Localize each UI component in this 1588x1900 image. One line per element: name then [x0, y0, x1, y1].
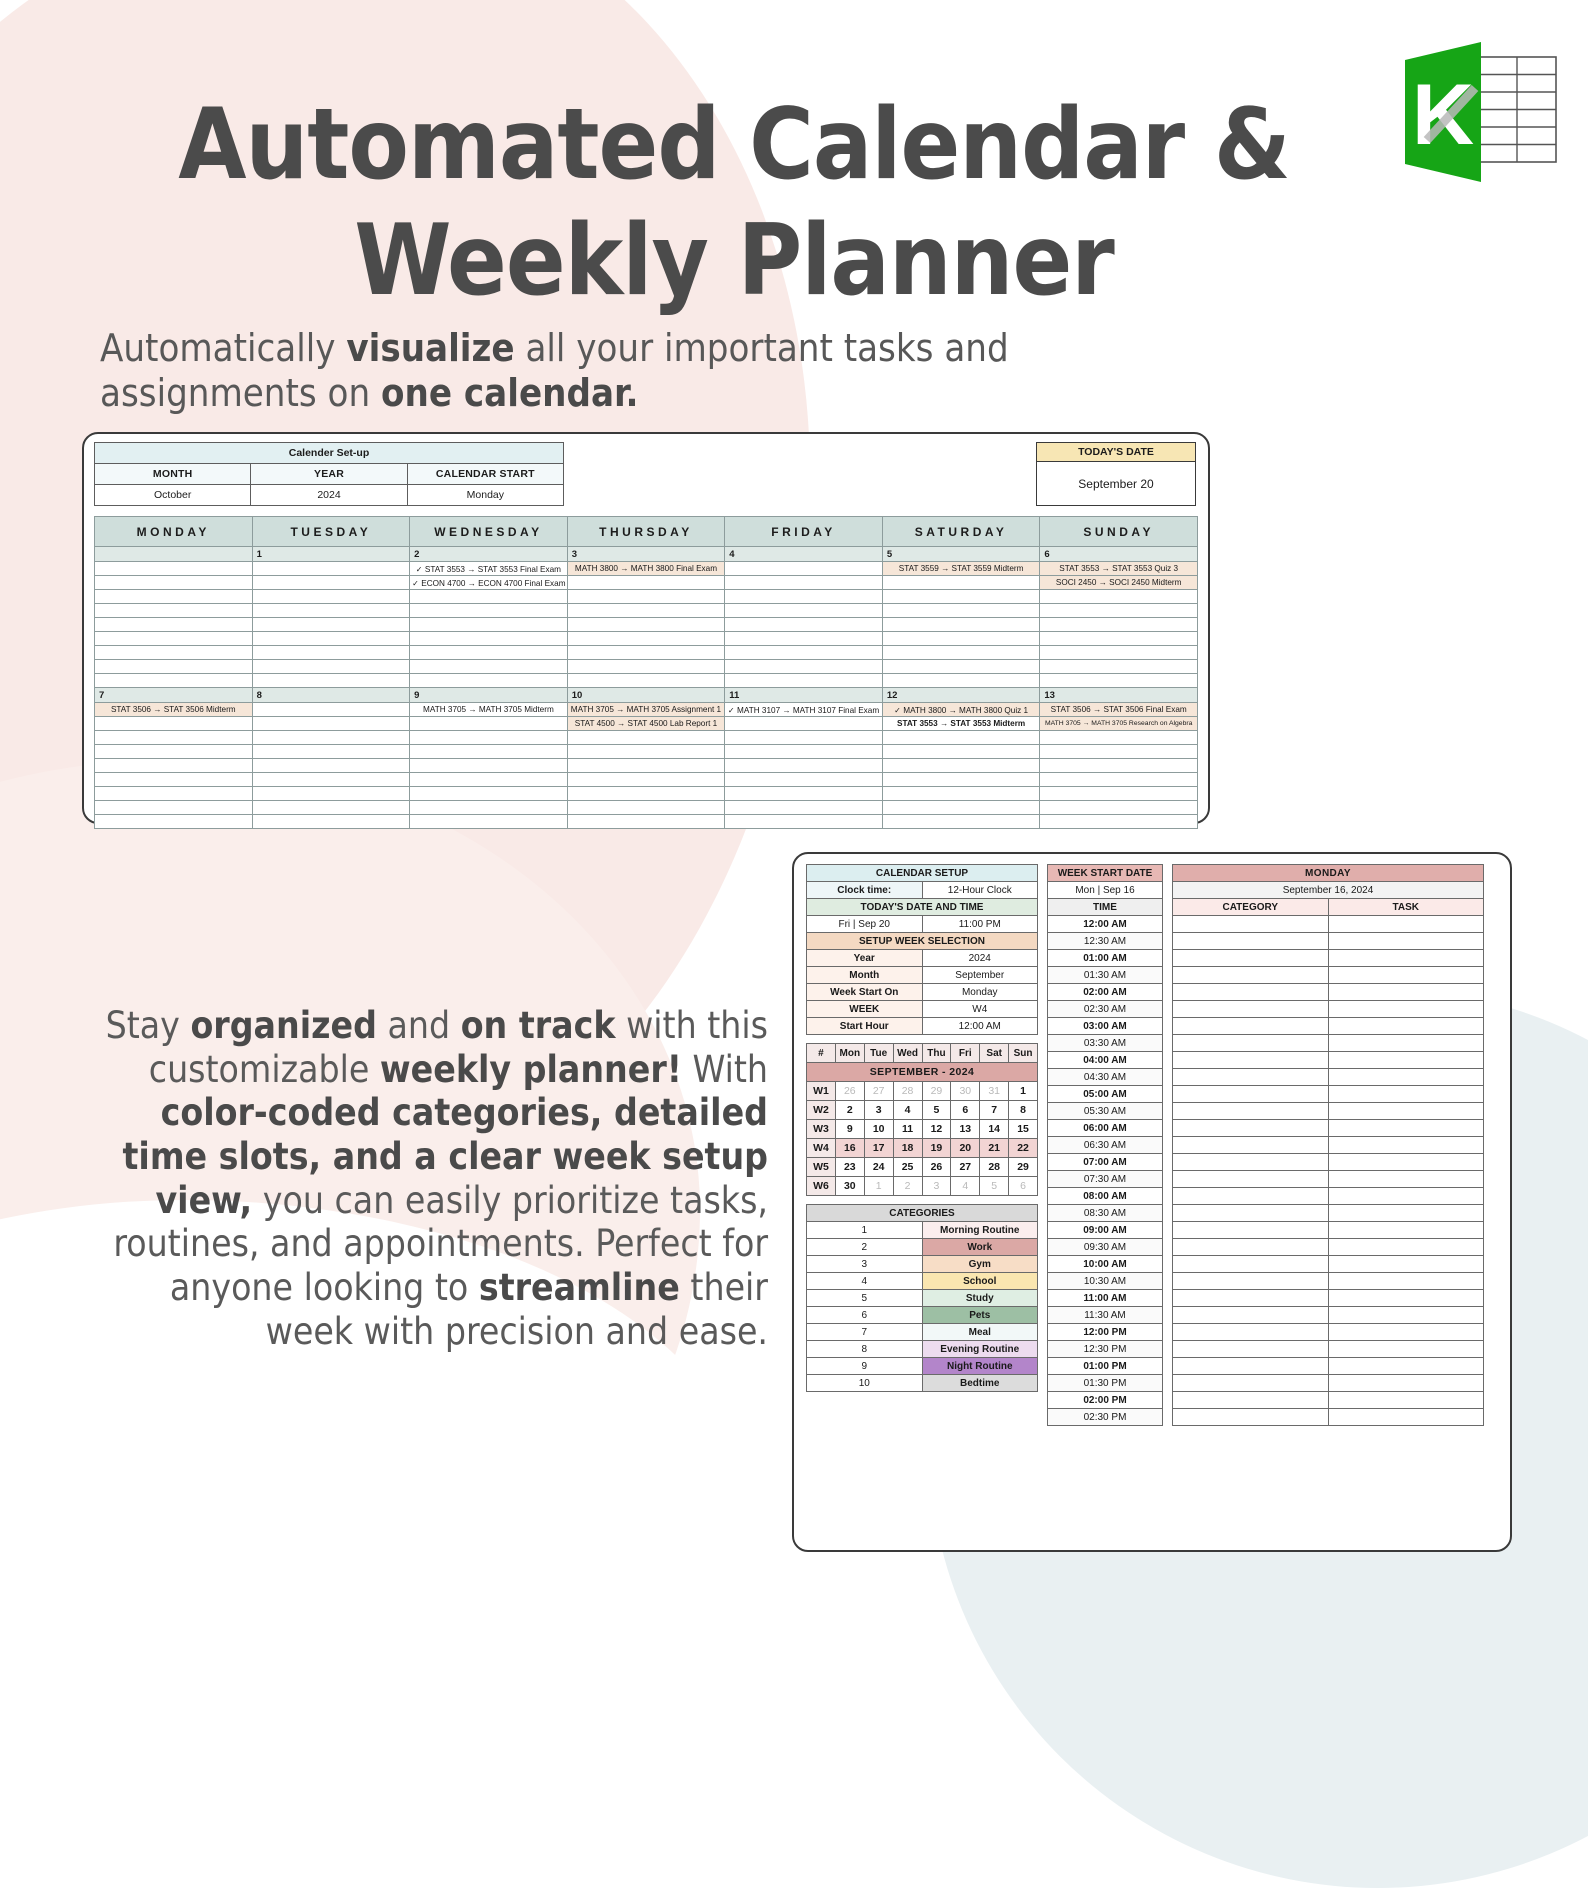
task-text-cell[interactable] — [1328, 1358, 1484, 1375]
mini-col-thu: Thu — [922, 1044, 951, 1063]
task-text-cell[interactable] — [1328, 1222, 1484, 1239]
time-slot-row: 01:30 AM — [1048, 967, 1163, 984]
mini-day-cell[interactable]: 15 — [1009, 1120, 1038, 1139]
task-category-cell[interactable] — [1173, 1222, 1329, 1239]
mini-week-row: W12627282930311 — [807, 1082, 1038, 1101]
task-category-cell[interactable] — [1173, 1273, 1329, 1290]
calendar-empty-cell[interactable] — [95, 801, 253, 815]
task-text-cell[interactable] — [1328, 1069, 1484, 1086]
category-name[interactable]: Meal — [922, 1324, 1038, 1341]
calendar-empty-cell[interactable] — [882, 787, 1040, 801]
calendar-empty-cell[interactable] — [410, 632, 568, 646]
calendar-event[interactable]: ✓ MATH 3800 → MATH 3800 Quiz 1 — [882, 703, 1040, 717]
task-category-cell[interactable] — [1173, 1256, 1329, 1273]
calendar-empty-cell[interactable] — [725, 562, 883, 576]
calendar-event[interactable]: STAT 3506 → STAT 3506 Final Exam — [1040, 703, 1198, 717]
weekday-saturday: SATURDAY — [882, 517, 1040, 547]
calendar-empty-cell[interactable] — [252, 703, 410, 717]
task-text-cell[interactable] — [1328, 1086, 1484, 1103]
calendar-empty-cell[interactable] — [95, 604, 253, 618]
setup-value-month[interactable]: October — [95, 485, 251, 506]
task-category-cell[interactable] — [1173, 1409, 1329, 1426]
task-text-cell[interactable] — [1328, 1137, 1484, 1154]
calendar-empty-cell[interactable] — [725, 801, 883, 815]
calendar-empty-cell[interactable] — [410, 717, 568, 731]
week-start-date-label: WEEK START DATE — [1048, 865, 1163, 882]
calendar-setup-table: Calender Set-up MONTH YEAR CALENDAR STAR… — [94, 442, 564, 506]
mini-day-cell[interactable]: 6 — [1009, 1177, 1038, 1196]
mini-day-cell[interactable]: 29 — [1009, 1158, 1038, 1177]
weekday-wednesday: WEDNESDAY — [410, 517, 568, 547]
calendar-empty-cell[interactable] — [725, 604, 883, 618]
calendar-empty-cell[interactable] — [95, 731, 253, 745]
setup-value-year[interactable]: 2024 — [251, 485, 407, 506]
calendar-empty-cell[interactable] — [725, 745, 883, 759]
mini-col-wed: Wed — [893, 1044, 922, 1063]
calendar-empty-cell[interactable] — [1040, 674, 1198, 688]
task-row — [1173, 1069, 1484, 1086]
task-text-cell[interactable] — [1328, 1171, 1484, 1188]
event-slot-row — [95, 731, 1198, 745]
calendar-empty-cell[interactable] — [882, 773, 1040, 787]
calendar-empty-cell[interactable] — [95, 759, 253, 773]
calendar-event[interactable]: MATH 3705 → MATH 3705 Midterm — [410, 703, 568, 717]
calendar-empty-cell[interactable] — [567, 745, 725, 759]
calendar-empty-cell[interactable] — [725, 759, 883, 773]
calendar-empty-cell[interactable] — [567, 604, 725, 618]
calendar-empty-cell[interactable] — [725, 731, 883, 745]
setup-row-value[interactable]: 12:00 AM — [922, 1018, 1038, 1035]
calendar-empty-cell[interactable] — [567, 787, 725, 801]
calendar-empty-cell[interactable] — [95, 562, 253, 576]
calendar-empty-cell[interactable] — [410, 773, 568, 787]
mini-day-cell[interactable]: 21 — [980, 1139, 1009, 1158]
calendar-empty-cell[interactable] — [252, 618, 410, 632]
calendar-event[interactable]: MATH 3705 → MATH 3705 Assignment 1 — [567, 703, 725, 717]
mini-day-cell[interactable]: 22 — [1009, 1139, 1038, 1158]
task-category-cell[interactable] — [1173, 1358, 1329, 1375]
calendar-empty-cell[interactable] — [95, 717, 253, 731]
subtitle-seg-1: Automatically — [100, 326, 346, 370]
calendar-empty-cell[interactable] — [252, 759, 410, 773]
mini-day-cell[interactable]: 3 — [922, 1177, 951, 1196]
calendar-empty-cell[interactable] — [95, 674, 253, 688]
task-category-cell[interactable] — [1173, 1052, 1329, 1069]
task-text-cell[interactable] — [1328, 1205, 1484, 1222]
task-text-cell[interactable] — [1328, 967, 1484, 984]
task-text-cell[interactable] — [1328, 1375, 1484, 1392]
task-text-cell[interactable] — [1328, 1409, 1484, 1426]
time-slot-label: 01:00 PM — [1048, 1358, 1163, 1375]
calendar-empty-cell[interactable] — [252, 632, 410, 646]
calendar-empty-cell[interactable] — [252, 562, 410, 576]
mini-day-cell[interactable]: 29 — [922, 1082, 951, 1101]
calendar-empty-cell[interactable] — [567, 618, 725, 632]
calendar-empty-cell[interactable] — [252, 801, 410, 815]
time-slot-label: 02:00 AM — [1048, 984, 1163, 1001]
day-date: September 16, 2024 — [1173, 882, 1484, 899]
calendar-empty-cell[interactable] — [725, 646, 883, 660]
time-slot-label: 01:30 PM — [1048, 1375, 1163, 1392]
calendar-empty-cell[interactable] — [410, 787, 568, 801]
task-text-cell[interactable] — [1328, 1307, 1484, 1324]
calendar-empty-cell[interactable] — [1040, 759, 1198, 773]
category-name[interactable]: Pets — [922, 1307, 1038, 1324]
mini-day-cell[interactable]: 24 — [864, 1158, 893, 1177]
calendar-empty-cell[interactable] — [410, 590, 568, 604]
time-slot-row: 05:30 AM — [1048, 1103, 1163, 1120]
mini-day-cell[interactable]: 31 — [980, 1082, 1009, 1101]
calendar-empty-cell[interactable] — [95, 590, 253, 604]
calendar-empty-cell[interactable] — [95, 576, 253, 590]
calendar-empty-cell[interactable] — [95, 815, 253, 829]
task-text-cell[interactable] — [1328, 950, 1484, 967]
calendar-empty-cell[interactable] — [95, 660, 253, 674]
task-category-cell[interactable] — [1173, 1018, 1329, 1035]
event-slot-row — [95, 632, 1198, 646]
setup-week-row: Start Hour12:00 AM — [807, 1018, 1038, 1035]
mini-day-cell[interactable]: 2 — [835, 1101, 864, 1120]
calendar-empty-cell[interactable] — [567, 773, 725, 787]
calendar-empty-cell[interactable] — [410, 745, 568, 759]
mini-day-cell[interactable]: 1 — [864, 1177, 893, 1196]
calendar-empty-cell[interactable] — [1040, 660, 1198, 674]
mini-day-cell[interactable]: 28 — [893, 1082, 922, 1101]
calendar-empty-cell[interactable] — [1040, 632, 1198, 646]
task-text-cell[interactable] — [1328, 1290, 1484, 1307]
mini-day-cell[interactable]: 19 — [922, 1139, 951, 1158]
mini-day-cell[interactable]: 27 — [951, 1158, 980, 1177]
task-row — [1173, 1239, 1484, 1256]
mini-day-cell[interactable]: 9 — [835, 1120, 864, 1139]
calendar-empty-cell[interactable] — [567, 731, 725, 745]
task-category-cell[interactable] — [1173, 1069, 1329, 1086]
time-slot-row: 02:30 PM — [1048, 1409, 1163, 1426]
calendar-event[interactable]: STAT 3553 → STAT 3553 Midterm — [882, 717, 1040, 731]
calendar-empty-cell[interactable] — [882, 801, 1040, 815]
task-row — [1173, 1154, 1484, 1171]
task-category-cell[interactable] — [1173, 1154, 1329, 1171]
mini-week-row: W523242526272829 — [807, 1158, 1038, 1177]
task-category-cell[interactable] — [1173, 1205, 1329, 1222]
calendar-empty-cell[interactable] — [1040, 604, 1198, 618]
event-slot-row: STAT 3506 → STAT 3506 MidtermMATH 3705 →… — [95, 703, 1198, 717]
task-category-cell[interactable] — [1173, 1035, 1329, 1052]
planner-setup-title: CALENDAR SETUP — [807, 865, 1038, 882]
task-category-cell[interactable] — [1173, 1086, 1329, 1103]
calendar-empty-cell[interactable] — [95, 646, 253, 660]
calendar-empty-cell[interactable] — [725, 632, 883, 646]
calendar-empty-cell[interactable] — [567, 590, 725, 604]
mini-week-row: W22345678 — [807, 1101, 1038, 1120]
mini-day-cell[interactable]: 4 — [951, 1177, 980, 1196]
calendar-empty-cell[interactable] — [725, 717, 883, 731]
setup-row-value[interactable]: Monday — [922, 984, 1038, 1001]
mini-day-cell[interactable]: 23 — [835, 1158, 864, 1177]
calendar-empty-cell[interactable] — [1040, 745, 1198, 759]
mini-day-cell[interactable]: 16 — [835, 1139, 864, 1158]
calendar-empty-cell[interactable] — [725, 618, 883, 632]
task-category-cell[interactable] — [1173, 1120, 1329, 1137]
event-slot-row: ✓ STAT 3553 → STAT 3553 Final ExamMATH 3… — [95, 562, 1198, 576]
time-slot-label: 04:00 AM — [1048, 1052, 1163, 1069]
calendar-empty-cell[interactable] — [252, 674, 410, 688]
task-category-cell[interactable] — [1173, 1137, 1329, 1154]
task-text-cell[interactable] — [1328, 1103, 1484, 1120]
calendar-event[interactable]: MATH 3705 → MATH 3705 Research on Algebr… — [1040, 717, 1198, 731]
calendar-empty-cell[interactable] — [252, 604, 410, 618]
category-name[interactable]: Morning Routine — [922, 1222, 1038, 1239]
mini-day-cell[interactable]: 6 — [951, 1101, 980, 1120]
page-title: Automated Calendar & Weekly Planner — [0, 88, 1588, 319]
calendar-empty-cell[interactable] — [252, 787, 410, 801]
mini-week-row: W416171819202122 — [807, 1139, 1038, 1158]
mini-day-cell[interactable]: 3 — [864, 1101, 893, 1120]
calendar-empty-cell[interactable] — [252, 590, 410, 604]
time-slot-row: 09:30 AM — [1048, 1239, 1163, 1256]
day-number: 11 — [725, 688, 883, 703]
task-category-cell[interactable] — [1173, 1324, 1329, 1341]
calendar-empty-cell[interactable] — [882, 815, 1040, 829]
task-row — [1173, 1120, 1484, 1137]
calendar-empty-cell[interactable] — [567, 660, 725, 674]
setup-row-value[interactable]: W4 — [922, 1001, 1038, 1018]
task-text-cell[interactable] — [1328, 1001, 1484, 1018]
description-paragraph: Stay organized and on track with this cu… — [96, 1004, 768, 1353]
mini-day-cell[interactable]: 20 — [951, 1139, 980, 1158]
mini-day-cell[interactable]: 30 — [835, 1177, 864, 1196]
calendar-empty-cell[interactable] — [410, 731, 568, 745]
week-start-date-value[interactable]: Mon | Sep 16 — [1048, 882, 1163, 899]
calendar-empty-cell[interactable] — [882, 745, 1040, 759]
task-category-cell[interactable] — [1173, 1307, 1329, 1324]
calendar-empty-cell[interactable] — [95, 632, 253, 646]
calendar-empty-cell[interactable] — [410, 604, 568, 618]
task-category-cell[interactable] — [1173, 984, 1329, 1001]
calendar-setup-title: Calender Set-up — [95, 443, 564, 464]
calendar-event[interactable]: ✓ MATH 3107 → MATH 3107 Final Exam — [725, 703, 883, 717]
calendar-empty-cell[interactable] — [252, 660, 410, 674]
calendar-empty-cell[interactable] — [882, 590, 1040, 604]
mini-day-cell[interactable]: 1 — [1009, 1082, 1038, 1101]
calendar-empty-cell[interactable] — [410, 646, 568, 660]
calendar-empty-cell[interactable] — [882, 674, 1040, 688]
task-text-cell[interactable] — [1328, 1052, 1484, 1069]
mini-day-cell[interactable]: 14 — [980, 1120, 1009, 1139]
calendar-empty-cell[interactable] — [252, 576, 410, 590]
time-slot-row: 01:00 AM — [1048, 950, 1163, 967]
task-row — [1173, 1001, 1484, 1018]
calendar-empty-cell[interactable] — [252, 773, 410, 787]
task-category-cell[interactable] — [1173, 1001, 1329, 1018]
task-category-cell[interactable] — [1173, 1375, 1329, 1392]
mini-day-cell[interactable]: 17 — [864, 1139, 893, 1158]
calendar-empty-cell[interactable] — [725, 590, 883, 604]
calendar-event[interactable]: STAT 4500 → STAT 4500 Lab Report 1 — [567, 717, 725, 731]
calendar-event[interactable]: ✓ ECON 4700 → ECON 4700 Final Exam — [410, 576, 568, 590]
mini-day-cell[interactable]: 27 — [864, 1082, 893, 1101]
calendar-empty-cell[interactable] — [410, 660, 568, 674]
day-number — [95, 547, 253, 562]
calendar-empty-cell[interactable] — [410, 759, 568, 773]
event-slot-row — [95, 801, 1198, 815]
calendar-empty-cell[interactable] — [95, 618, 253, 632]
mini-day-cell[interactable]: 12 — [922, 1120, 951, 1139]
event-slot-row — [95, 787, 1198, 801]
task-text-cell[interactable] — [1328, 1273, 1484, 1290]
event-slot-row — [95, 815, 1198, 829]
task-category-cell[interactable] — [1173, 1188, 1329, 1205]
calendar-empty-cell[interactable] — [95, 745, 253, 759]
calendar-empty-cell[interactable] — [725, 660, 883, 674]
task-text-cell[interactable] — [1328, 1239, 1484, 1256]
mini-day-cell[interactable]: 26 — [835, 1082, 864, 1101]
calendar-empty-cell[interactable] — [252, 646, 410, 660]
calendar-empty-cell[interactable] — [410, 801, 568, 815]
calendar-event[interactable]: MATH 3800 → MATH 3800 Final Exam — [567, 562, 725, 576]
mini-day-cell[interactable]: 2 — [893, 1177, 922, 1196]
calendar-empty-cell[interactable] — [252, 717, 410, 731]
time-slot-row: 12:00 PM — [1048, 1324, 1163, 1341]
planner-time-column: WEEK START DATE Mon | Sep 16 TIME 12:00 … — [1047, 864, 1163, 1426]
setup-value-calendar-start[interactable]: Monday — [407, 485, 563, 506]
calendar-empty-cell[interactable] — [410, 674, 568, 688]
day-task-table: MONDAY September 16, 2024 CATEGORY TASK — [1172, 864, 1484, 1426]
calendar-empty-cell[interactable] — [882, 759, 1040, 773]
task-text-cell[interactable] — [1328, 1324, 1484, 1341]
time-slot-row: 08:00 AM — [1048, 1188, 1163, 1205]
task-text-cell[interactable] — [1328, 1188, 1484, 1205]
calendar-empty-cell[interactable] — [567, 815, 725, 829]
clock-time-value[interactable]: 12-Hour Clock — [922, 882, 1038, 899]
mini-day-cell[interactable]: 30 — [951, 1082, 980, 1101]
calendar-empty-cell[interactable] — [567, 646, 725, 660]
task-category-cell[interactable] — [1173, 967, 1329, 984]
category-name[interactable]: Work — [922, 1239, 1038, 1256]
mini-day-cell[interactable]: 10 — [864, 1120, 893, 1139]
mini-day-cell[interactable]: 4 — [893, 1101, 922, 1120]
calendar-empty-cell[interactable] — [1040, 815, 1198, 829]
calendar-empty-cell[interactable] — [882, 646, 1040, 660]
calendar-empty-cell[interactable] — [882, 660, 1040, 674]
task-category-cell[interactable] — [1173, 916, 1329, 933]
calendar-empty-cell[interactable] — [882, 632, 1040, 646]
category-index: 9 — [807, 1358, 923, 1375]
task-text-cell[interactable] — [1328, 1341, 1484, 1358]
mini-day-cell[interactable]: 26 — [922, 1158, 951, 1177]
calendar-empty-cell[interactable] — [725, 674, 883, 688]
task-category-cell[interactable] — [1173, 1103, 1329, 1120]
calendar-empty-cell[interactable] — [410, 815, 568, 829]
calendar-empty-cell[interactable] — [567, 674, 725, 688]
category-name[interactable]: Study — [922, 1290, 1038, 1307]
task-text-cell[interactable] — [1328, 1256, 1484, 1273]
task-category-cell[interactable] — [1173, 1290, 1329, 1307]
mini-col-tue: Tue — [864, 1044, 893, 1063]
mini-day-cell[interactable]: 28 — [980, 1158, 1009, 1177]
mini-day-cell[interactable]: 5 — [922, 1101, 951, 1120]
category-name[interactable]: Evening Routine — [922, 1341, 1038, 1358]
calendar-empty-cell[interactable] — [567, 801, 725, 815]
time-slot-row: 01:00 PM — [1048, 1358, 1163, 1375]
calendar-empty-cell[interactable] — [252, 745, 410, 759]
calendar-empty-cell[interactable] — [1040, 731, 1198, 745]
task-text-cell[interactable] — [1328, 1392, 1484, 1409]
calendar-empty-cell[interactable] — [1040, 801, 1198, 815]
setup-row-value[interactable]: 2024 — [922, 950, 1038, 967]
calendar-empty-cell[interactable] — [567, 759, 725, 773]
task-text-cell[interactable] — [1328, 1120, 1484, 1137]
calendar-empty-cell[interactable] — [1040, 773, 1198, 787]
mini-day-cell[interactable]: 18 — [893, 1139, 922, 1158]
task-text-cell[interactable] — [1328, 984, 1484, 1001]
calendar-event[interactable]: STAT 3553 → STAT 3553 Quiz 3 — [1040, 562, 1198, 576]
calendar-empty-cell[interactable] — [1040, 646, 1198, 660]
task-text-cell[interactable] — [1328, 1018, 1484, 1035]
calendar-empty-cell[interactable] — [1040, 787, 1198, 801]
calendar-empty-cell[interactable] — [882, 618, 1040, 632]
task-text-cell[interactable] — [1328, 1035, 1484, 1052]
category-name[interactable]: School — [922, 1273, 1038, 1290]
calendar-empty-cell[interactable] — [567, 632, 725, 646]
task-category-cell[interactable] — [1173, 1239, 1329, 1256]
calendar-event[interactable]: ✓ STAT 3553 → STAT 3553 Final Exam — [410, 562, 568, 576]
mini-week-label: W6 — [807, 1177, 836, 1196]
calendar-empty-cell[interactable] — [725, 787, 883, 801]
task-category-cell[interactable] — [1173, 1171, 1329, 1188]
category-name[interactable]: Bedtime — [922, 1375, 1038, 1392]
calendar-empty-cell[interactable] — [1040, 590, 1198, 604]
planner-calendar-setup-table: CALENDAR SETUP Clock time: 12-Hour Clock… — [806, 864, 1038, 1035]
task-category-cell[interactable] — [1173, 933, 1329, 950]
calendar-empty-cell[interactable] — [725, 773, 883, 787]
task-text-cell[interactable] — [1328, 933, 1484, 950]
calendar-empty-cell[interactable] — [882, 604, 1040, 618]
setup-row-value[interactable]: September — [922, 967, 1038, 984]
category-row: 1Morning Routine — [807, 1222, 1038, 1239]
calendar-empty-cell[interactable] — [410, 618, 568, 632]
calendar-event[interactable]: STAT 3559 → STAT 3559 Midterm — [882, 562, 1040, 576]
calendar-empty-cell[interactable] — [725, 576, 883, 590]
calendar-event[interactable]: SOCI 2450 → SOCI 2450 Midterm — [1040, 576, 1198, 590]
mini-day-cell[interactable]: 11 — [893, 1120, 922, 1139]
calendar-event[interactable]: STAT 3506 → STAT 3506 Midterm — [95, 703, 253, 717]
category-name[interactable]: Gym — [922, 1256, 1038, 1273]
calendar-empty-cell[interactable] — [95, 787, 253, 801]
task-text-cell[interactable] — [1328, 1154, 1484, 1171]
calendar-empty-cell[interactable] — [567, 576, 725, 590]
mini-day-cell[interactable]: 25 — [893, 1158, 922, 1177]
task-category-cell[interactable] — [1173, 1392, 1329, 1409]
calendar-empty-cell[interactable] — [252, 815, 410, 829]
calendar-empty-cell[interactable] — [882, 576, 1040, 590]
task-text-cell[interactable] — [1328, 916, 1484, 933]
time-slot-row: 02:00 AM — [1048, 984, 1163, 1001]
calendar-empty-cell[interactable] — [252, 731, 410, 745]
calendar-empty-cell[interactable] — [725, 815, 883, 829]
calendar-empty-cell[interactable] — [1040, 618, 1198, 632]
mini-day-cell[interactable]: 5 — [980, 1177, 1009, 1196]
category-name[interactable]: Night Routine — [922, 1358, 1038, 1375]
task-row — [1173, 1222, 1484, 1239]
task-category-cell[interactable] — [1173, 1341, 1329, 1358]
mini-day-cell[interactable]: 7 — [980, 1101, 1009, 1120]
calendar-empty-cell[interactable] — [95, 773, 253, 787]
mini-day-cell[interactable]: 13 — [951, 1120, 980, 1139]
calendar-empty-cell[interactable] — [882, 731, 1040, 745]
mini-day-cell[interactable]: 8 — [1009, 1101, 1038, 1120]
task-category-cell[interactable] — [1173, 950, 1329, 967]
